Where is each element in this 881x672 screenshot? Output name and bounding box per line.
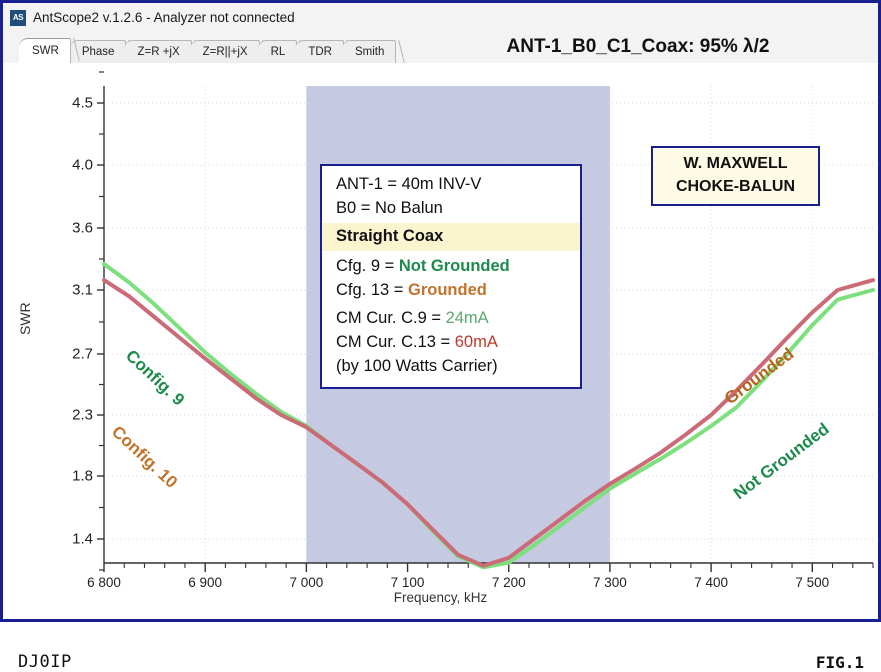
info-cfg9-label: Cfg. 9 = — [336, 257, 399, 275]
info-note: (by 100 Watts Carrier) — [322, 355, 580, 379]
info-cfg13: Cfg. 13 = Grounded — [322, 279, 580, 303]
measurement-info-box: ANT-1 = 40m INV-V B0 = No Balun Straight… — [320, 164, 582, 389]
tab-label: Z=R +jX — [137, 46, 179, 58]
tab-label: Z=R||+jX — [203, 46, 248, 58]
info-antenna: ANT-1 = 40m INV-V — [322, 173, 580, 197]
title-bar: AS AntScope2 v.1.2.6 - Analyzer not conn… — [3, 3, 878, 33]
y-tick-label: 2.7 — [47, 346, 93, 363]
y-tick-label: 2.3 — [47, 407, 93, 424]
info-cfg13-value: Grounded — [408, 281, 487, 299]
callsign-label: DJ0IP — [18, 652, 72, 672]
tab-phase[interactable]: Phase — [69, 40, 127, 63]
info-cfg13-label: Cfg. 13 = — [336, 281, 408, 299]
x-tick-label: 7 400 — [676, 575, 746, 590]
y-tick-label: 1.8 — [47, 468, 93, 485]
figure-label: FIG.1 — [816, 653, 864, 672]
info-balun: B0 = No Balun — [322, 197, 580, 221]
antscope-app-icon: AS — [10, 10, 26, 26]
tab-smith[interactable]: Smith — [342, 40, 396, 63]
maxwell-line-2: CHOKE-BALUN — [653, 176, 818, 199]
maxwell-line-1: W. MAXWELL — [653, 153, 818, 176]
info-cm9-label: CM Cur. C.9 = — [336, 309, 446, 327]
tab-tdr[interactable]: TDR — [295, 40, 344, 63]
y-tick-label: 4.5 — [47, 95, 93, 112]
tab-rl[interactable]: RL — [258, 40, 298, 63]
tab-swr[interactable]: SWR — [19, 38, 71, 63]
page-title: ANT-1_B0_C1_Coax: 95% λ/2 — [458, 34, 818, 60]
info-cfg9: Cfg. 9 = Not Grounded — [322, 255, 580, 279]
x-tick-label: 7 100 — [373, 575, 443, 590]
maxwell-choke-balun-box: W. MAXWELL CHOKE-BALUN — [651, 146, 820, 206]
tab-label: Phase — [82, 46, 115, 58]
tab-label: SWR — [32, 45, 59, 57]
tab-z-series[interactable]: Z=R +jX — [124, 40, 191, 63]
x-tick-label: 6 800 — [69, 575, 139, 590]
x-tick-label: 6 900 — [170, 575, 240, 590]
x-tick-label: 7 300 — [575, 575, 645, 590]
info-cm13-value: 60mA — [455, 333, 498, 351]
info-cm9-value: 24mA — [446, 309, 489, 327]
info-cm13: CM Cur. C.13 = 60mA — [322, 331, 580, 355]
chart-panel: SWR Frequency, kHz 1.41.82.32.73.13.64.0… — [3, 63, 878, 619]
x-tick-label: 7 000 — [271, 575, 341, 590]
window-title: AntScope2 v.1.2.6 - Analyzer not connect… — [33, 10, 295, 25]
tab-z-parallel[interactable]: Z=R||+jX — [190, 40, 260, 63]
antscope-window: AS AntScope2 v.1.2.6 - Analyzer not conn… — [0, 0, 881, 622]
y-tick-label: 3.1 — [47, 282, 93, 299]
info-coax: Straight Coax — [322, 223, 580, 251]
tab-label: Smith — [355, 46, 384, 58]
y-tick-label: 3.6 — [47, 220, 93, 237]
x-tick-label: 7 500 — [777, 575, 847, 590]
x-tick-label: 7 200 — [474, 575, 544, 590]
y-tick-label: 4.0 — [47, 157, 93, 174]
y-tick-label: 1.4 — [47, 531, 93, 548]
tab-label: TDR — [308, 46, 332, 58]
info-cm13-label: CM Cur. C.13 = — [336, 333, 455, 351]
info-cfg9-value: Not Grounded — [399, 257, 510, 275]
tab-label: RL — [271, 46, 286, 58]
x-axis-title: Frequency, kHz — [3, 590, 878, 605]
info-cm9: CM Cur. C.9 = 24mA — [322, 307, 580, 331]
y-axis-title: SWR — [17, 302, 33, 335]
